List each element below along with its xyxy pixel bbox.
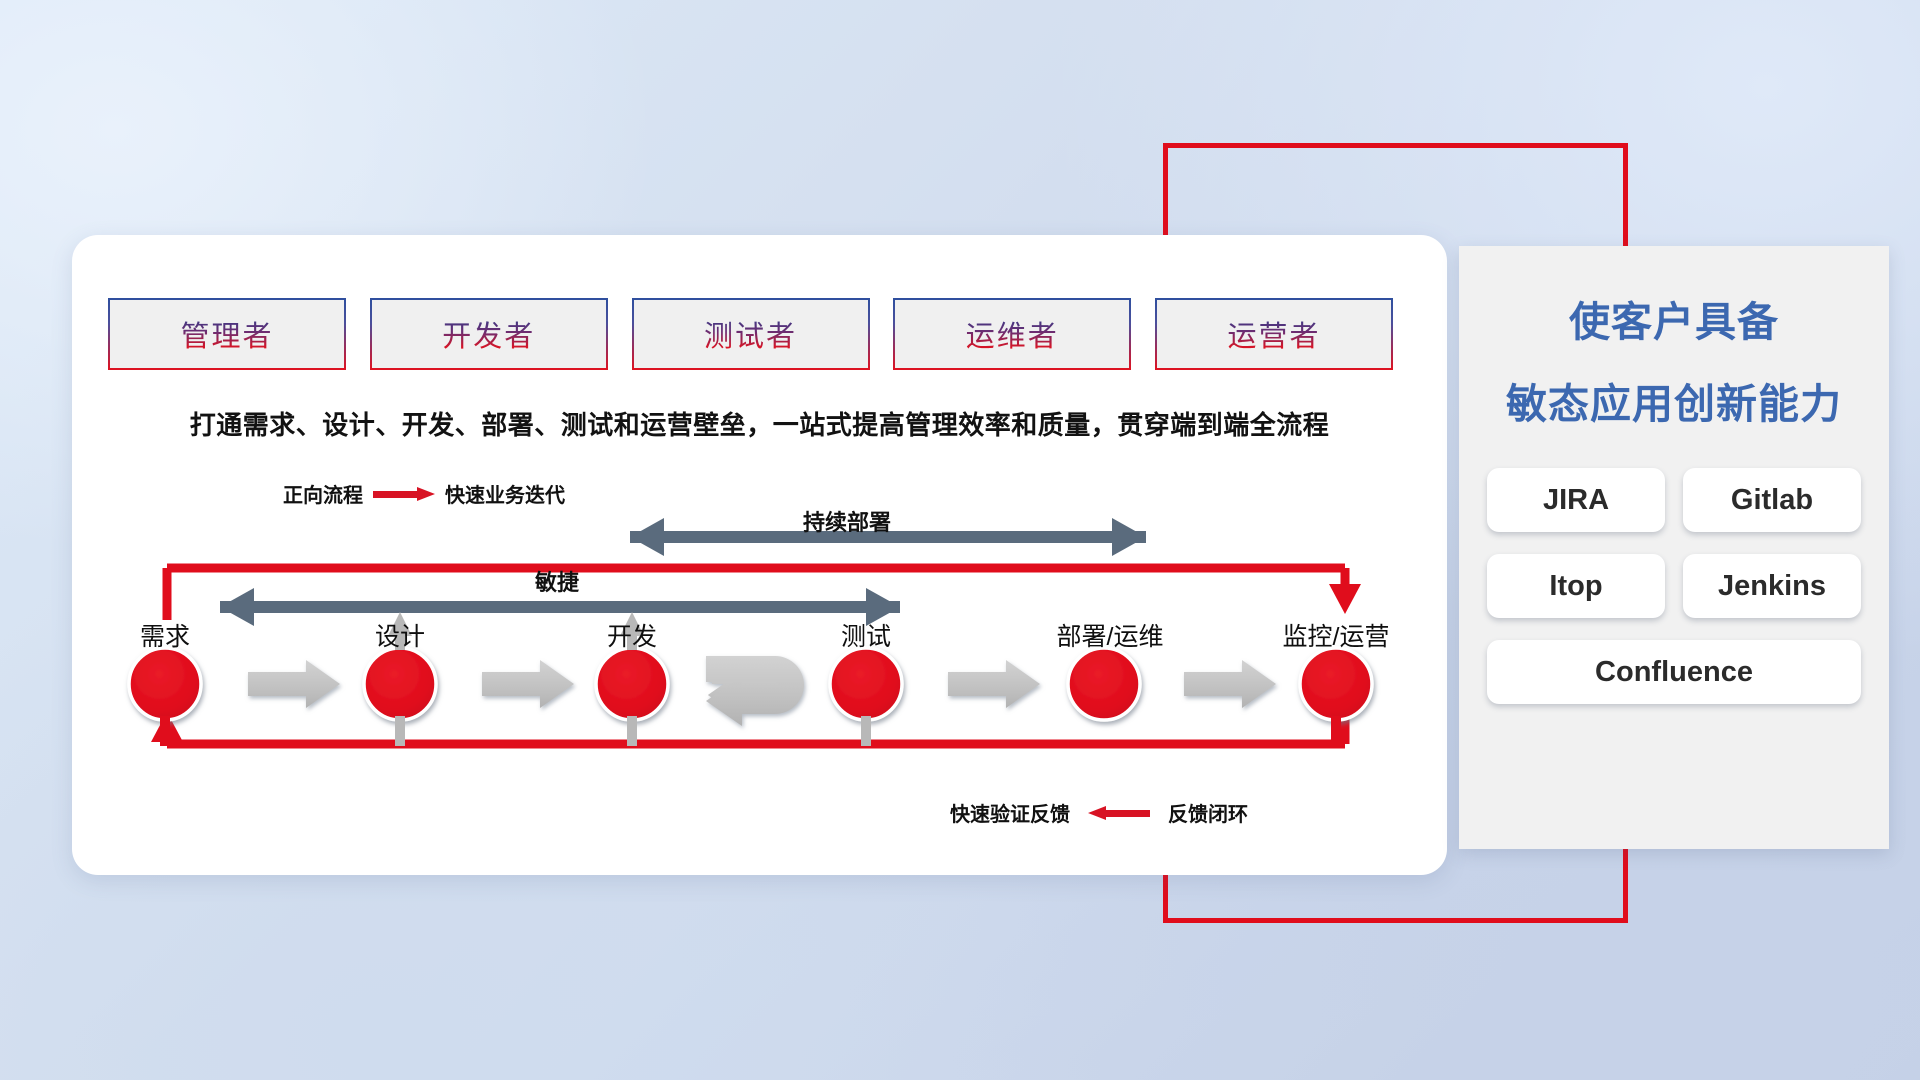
role-label: 开发者 <box>442 313 535 355</box>
legend-feedback-right-label: 反馈闭环 <box>1168 798 1248 827</box>
legend-forward-right-label: 快速业务迭代 <box>445 479 565 508</box>
legend-feedback-left-label: 快速验证反馈 <box>950 798 1070 827</box>
tool-chip-jenkins[interactable]: Jenkins <box>1683 554 1861 618</box>
stage-label-deployment: 部署/运维 <box>1057 617 1164 653</box>
role-label: 测试者 <box>704 313 797 355</box>
role-label: 运维者 <box>966 313 1059 355</box>
tool-chip-gitlab[interactable]: Gitlab <box>1683 468 1861 532</box>
panel-heading-line1: 使客户具备 <box>1459 288 1889 348</box>
role-box-operator[interactable]: 运营者 <box>1155 298 1393 370</box>
span-label-continuous-deployment: 持续部署 <box>803 505 891 537</box>
tool-chip-itop[interactable]: Itop <box>1487 554 1665 618</box>
right-panel: 使客户具备 敏态应用创新能力 JIRA Gitlab Itop Jenkins … <box>1459 246 1889 849</box>
legend-forward-flow: 正向流程 快速业务迭代 <box>283 479 565 508</box>
span-label-agile: 敏捷 <box>535 565 579 597</box>
tool-chip-jira[interactable]: JIRA <box>1487 468 1665 532</box>
panel-heading: 使客户具备 敏态应用创新能力 <box>1459 288 1889 430</box>
tool-chip-list: JIRA Gitlab Itop Jenkins Confluence <box>1459 430 1889 704</box>
legend-feedback-loop: 快速验证反馈 反馈闭环 <box>950 798 1248 827</box>
role-boxes: 管理者 开发者 测试者 运维者 运营者 <box>108 298 1393 370</box>
stage-label-requirement: 需求 <box>140 617 190 653</box>
role-label: 运营者 <box>1227 313 1320 355</box>
role-box-ops[interactable]: 运维者 <box>893 298 1131 370</box>
role-box-tester[interactable]: 测试者 <box>632 298 870 370</box>
stage-label-design: 设计 <box>375 617 425 653</box>
role-box-developer[interactable]: 开发者 <box>370 298 608 370</box>
arrow-right-red-icon <box>373 487 435 501</box>
stage-label-testing: 测试 <box>841 617 891 653</box>
legend-forward-left-label: 正向流程 <box>283 479 363 508</box>
role-box-manager[interactable]: 管理者 <box>108 298 346 370</box>
role-label: 管理者 <box>180 313 273 355</box>
tool-chip-confluence[interactable]: Confluence <box>1487 640 1861 704</box>
panel-heading-line2: 敏态应用创新能力 <box>1459 370 1889 430</box>
arrow-left-red-icon <box>1088 806 1150 820</box>
stage-label-development: 开发 <box>607 617 657 653</box>
stage-label-monitoring: 监控/运营 <box>1283 617 1390 653</box>
description-text: 打通需求、设计、开发、部署、测试和运营壁垒，一站式提高管理效率和质量，贯穿端到端… <box>72 405 1447 442</box>
